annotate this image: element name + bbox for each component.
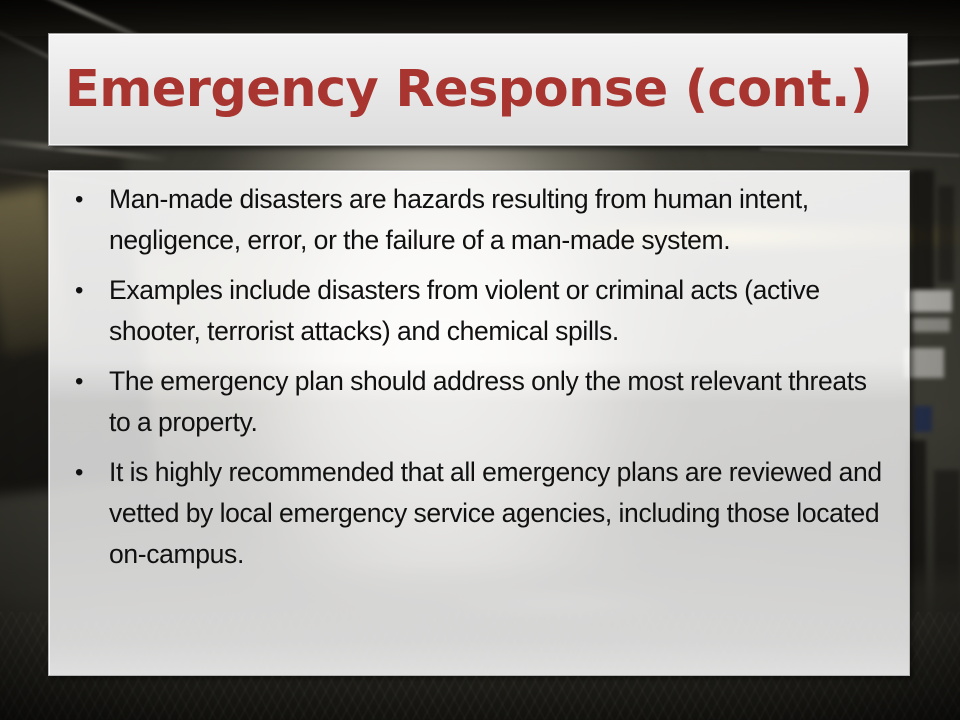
bullet-list: Man-made disasters are hazards resulting… bbox=[63, 179, 887, 575]
bullet-item: Man-made disasters are hazards resulting… bbox=[63, 179, 887, 261]
bullet-item: It is highly recommended that all emerge… bbox=[63, 452, 887, 575]
presentation-slide: Emergency Response (cont.) Man-made disa… bbox=[0, 0, 960, 720]
slide-title-box: Emergency Response (cont.) bbox=[48, 33, 908, 146]
slide-content-panel: Man-made disasters are hazards resulting… bbox=[48, 170, 910, 676]
bullet-item: The emergency plan should address only t… bbox=[63, 361, 887, 443]
bullet-item: Examples include disasters from violent … bbox=[63, 270, 887, 352]
slide-title: Emergency Response (cont.) bbox=[65, 64, 872, 115]
